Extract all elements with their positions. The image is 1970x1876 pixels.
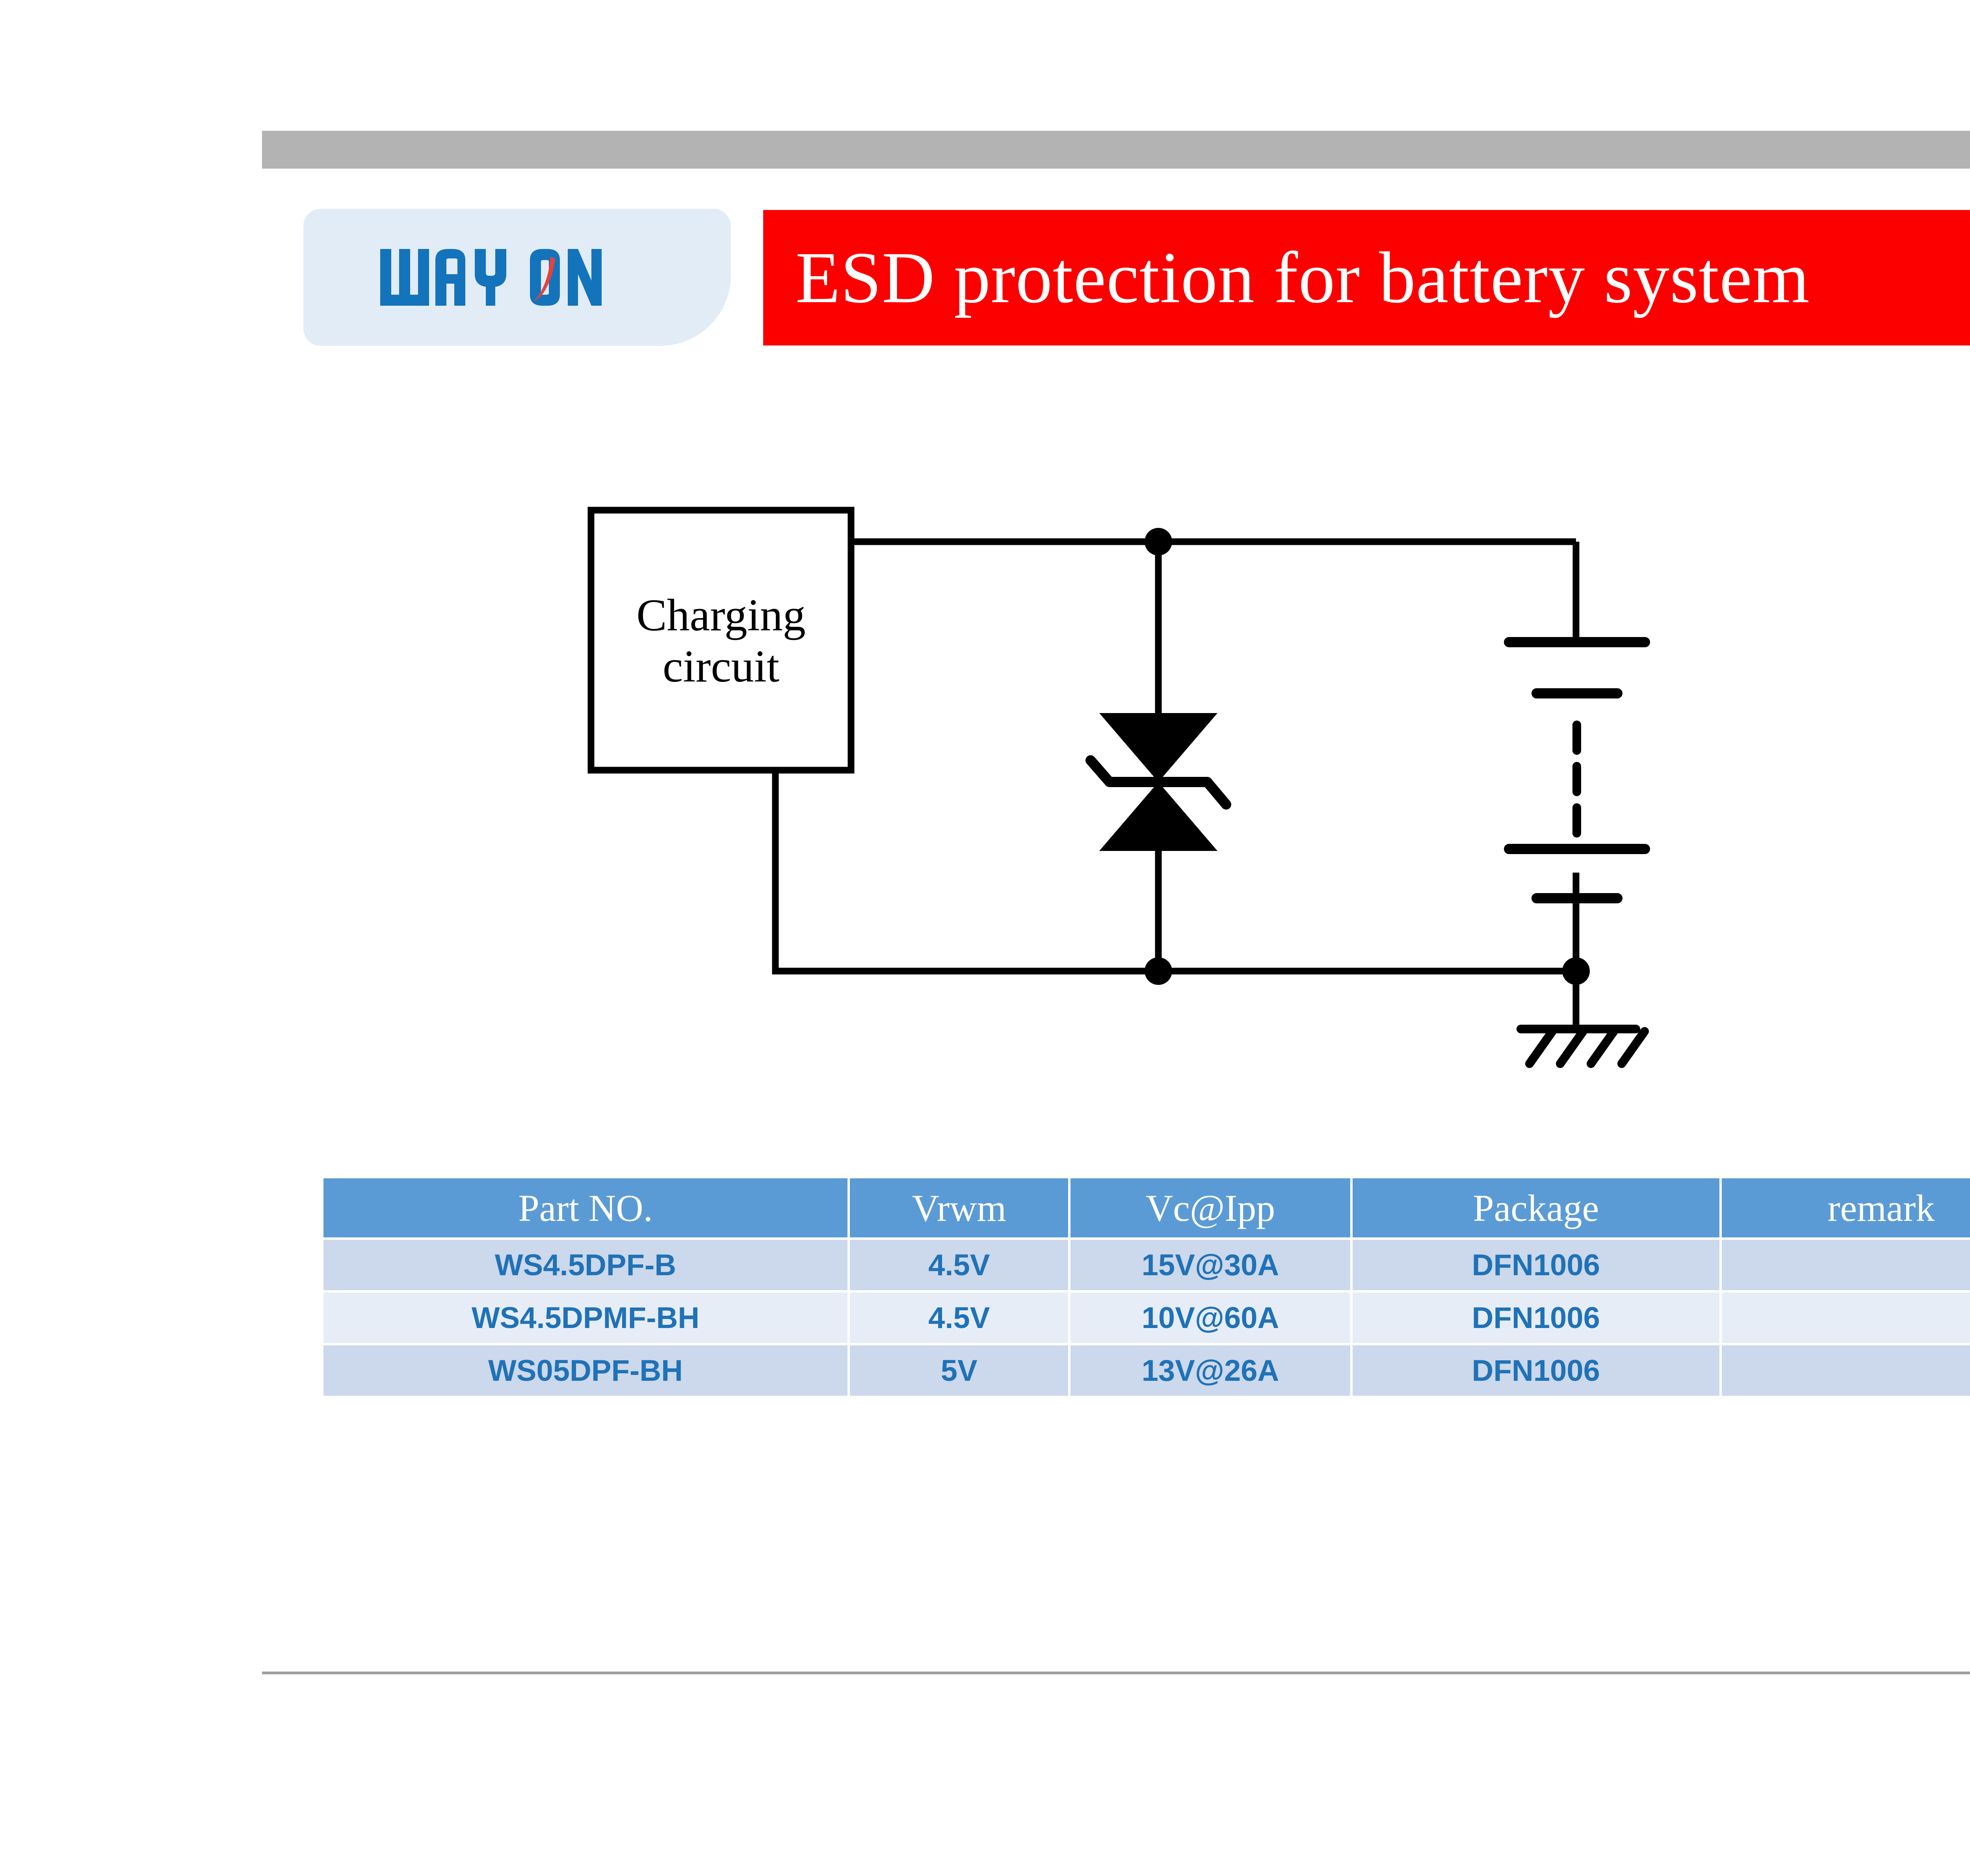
header-gray-bar <box>262 131 1970 169</box>
cell-vc-ipp: 10V@60A <box>1070 1293 1350 1343</box>
cell-vrwm: 5V <box>850 1345 1068 1396</box>
battery-cell-icon <box>1509 642 1645 898</box>
cell-vrwm: 4.5V <box>850 1240 1068 1290</box>
cell-vrwm: 4.5V <box>850 1293 1068 1343</box>
cell-vc-ipp: 13V@26A <box>1070 1345 1350 1396</box>
cell-package: DFN1006 <box>1353 1293 1719 1343</box>
column-header-remark: remark <box>1722 1178 1970 1237</box>
cell-remark <box>1722 1293 1970 1343</box>
column-header-vc-ipp: Vc@Ipp <box>1070 1178 1350 1237</box>
column-header-vrwm: Vrwm <box>850 1178 1068 1237</box>
page-title: ESD protection for battery system <box>763 241 1810 314</box>
circuit-schematic-svg: Charging circuit <box>552 473 1812 1103</box>
junction-dot-icon <box>1145 528 1172 555</box>
junction-dot-icon <box>1145 957 1172 985</box>
cell-remark <box>1722 1240 1970 1290</box>
wayon-logo-icon <box>375 238 659 317</box>
junction-dot-icon <box>1562 957 1590 985</box>
column-header-part-no: Part NO. <box>323 1178 847 1237</box>
table-row: WS4.5DPF-B 4.5V 15V@30A DFN1006 <box>323 1240 1970 1290</box>
spec-table: Part NO. Vrwm Vc@Ipp Package remark WS4.… <box>321 1176 1970 1398</box>
cell-vc-ipp: 15V@30A <box>1070 1240 1350 1290</box>
charging-circuit-label-line1: Charging <box>636 590 806 641</box>
cell-package: DFN1006 <box>1353 1240 1719 1290</box>
charging-circuit-label-line2: circuit <box>663 641 779 692</box>
footer-separator <box>262 1672 1970 1674</box>
table-header-row: Part NO. Vrwm Vc@Ipp Package remark <box>323 1178 1970 1237</box>
cell-remark <box>1722 1345 1970 1396</box>
table-row: WS4.5DPMF-BH 4.5V 10V@60A DFN1006 <box>323 1293 1970 1343</box>
cell-part-no: WS05DPF-BH <box>323 1345 847 1396</box>
cell-part-no: WS4.5DPMF-BH <box>323 1293 847 1343</box>
cell-part-no: WS4.5DPF-B <box>323 1240 847 1290</box>
header-title-bar: ESD protection for battery system <box>763 210 1970 345</box>
circuit-diagram: Charging circuit <box>552 473 1812 1103</box>
chassis-ground-icon <box>1521 1029 1645 1064</box>
wayon-logo <box>303 209 731 346</box>
column-header-package: Package <box>1353 1178 1719 1237</box>
cell-package: DFN1006 <box>1353 1345 1719 1396</box>
header-logo-box <box>303 209 731 346</box>
wire-bottom <box>775 770 1576 971</box>
slide-root: ESD protection for battery system Chargi… <box>0 0 1970 1876</box>
table-row: WS05DPF-BH 5V 13V@26A DFN1006 <box>323 1345 1970 1396</box>
bidirectional-tvs-diode-icon <box>1091 713 1226 851</box>
